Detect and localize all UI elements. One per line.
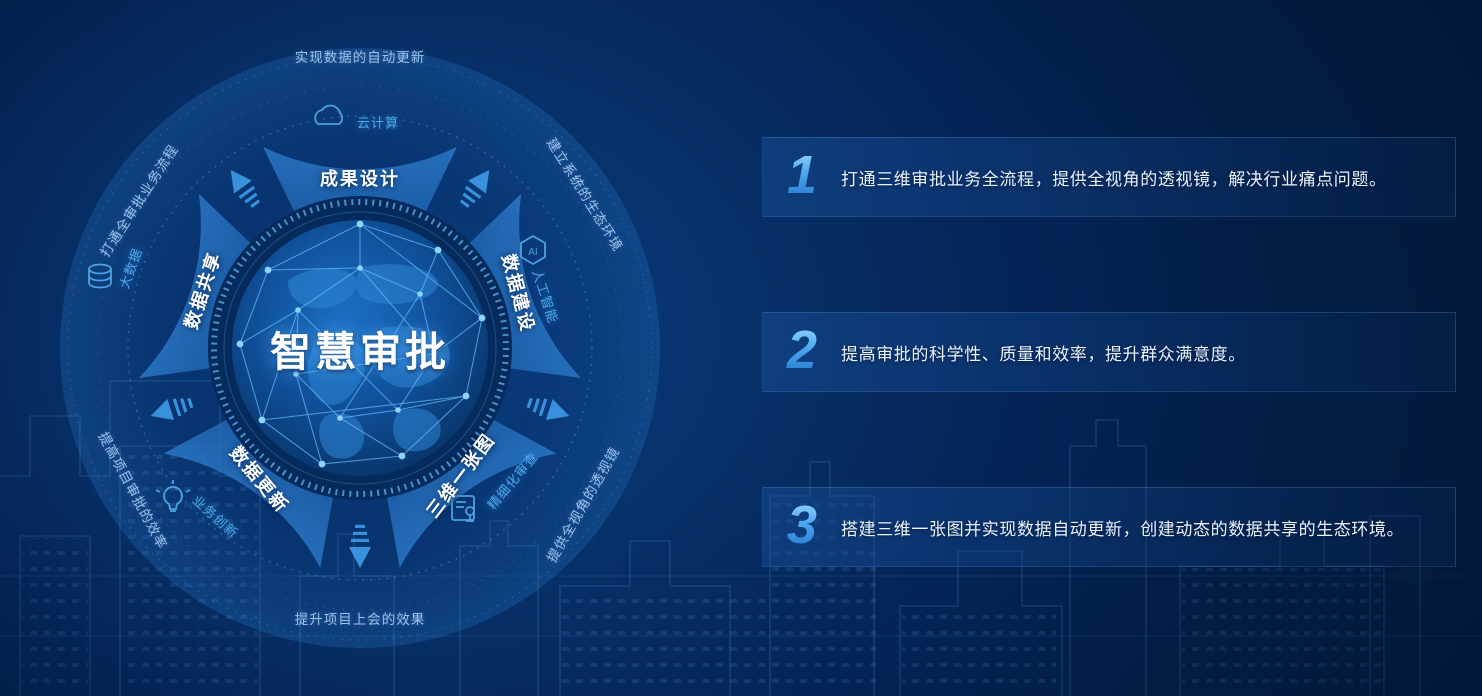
icon-label-cloud: 云计算 (357, 113, 399, 132)
point-number: 2 (763, 323, 841, 381)
point-number: 3 (763, 498, 841, 556)
point-number: 1 (763, 148, 841, 206)
ring-outer-label: 提升项目上会的效果 (295, 608, 426, 628)
segment-label-chengguo: 成果设计 (320, 165, 400, 191)
point-text: 打通三维审批业务全流程，提供全视角的透视镜，解决行业痛点问题。 (841, 165, 1387, 190)
point-text: 搭建三维一张图并实现数据自动更新，创建动态的数据共享的生态环境。 (841, 515, 1404, 540)
svg-text:AI: AI (528, 247, 537, 258)
list-item[interactable]: 3 搭建三维一张图并实现数据自动更新，创建动态的数据共享的生态环境。 (762, 487, 1456, 567)
point-text: 提高审批的科学性、质量和效率，提升群众满意度。 (841, 340, 1246, 365)
poster-canvas: AI (0, 0, 1482, 696)
ring-outer-label: 实现数据的自动更新 (295, 46, 426, 66)
list-item[interactable]: 2 提高审批的科学性、质量和效率，提升群众满意度。 (762, 312, 1456, 392)
circular-infographic: AI (30, 18, 690, 678)
points-list: 1 打通三维审批业务全流程，提供全视角的透视镜，解决行业痛点问题。 2 提高审批… (762, 0, 1462, 696)
list-item[interactable]: 1 打通三维审批业务全流程，提供全视角的透视镜，解决行业痛点问题。 (762, 137, 1456, 217)
